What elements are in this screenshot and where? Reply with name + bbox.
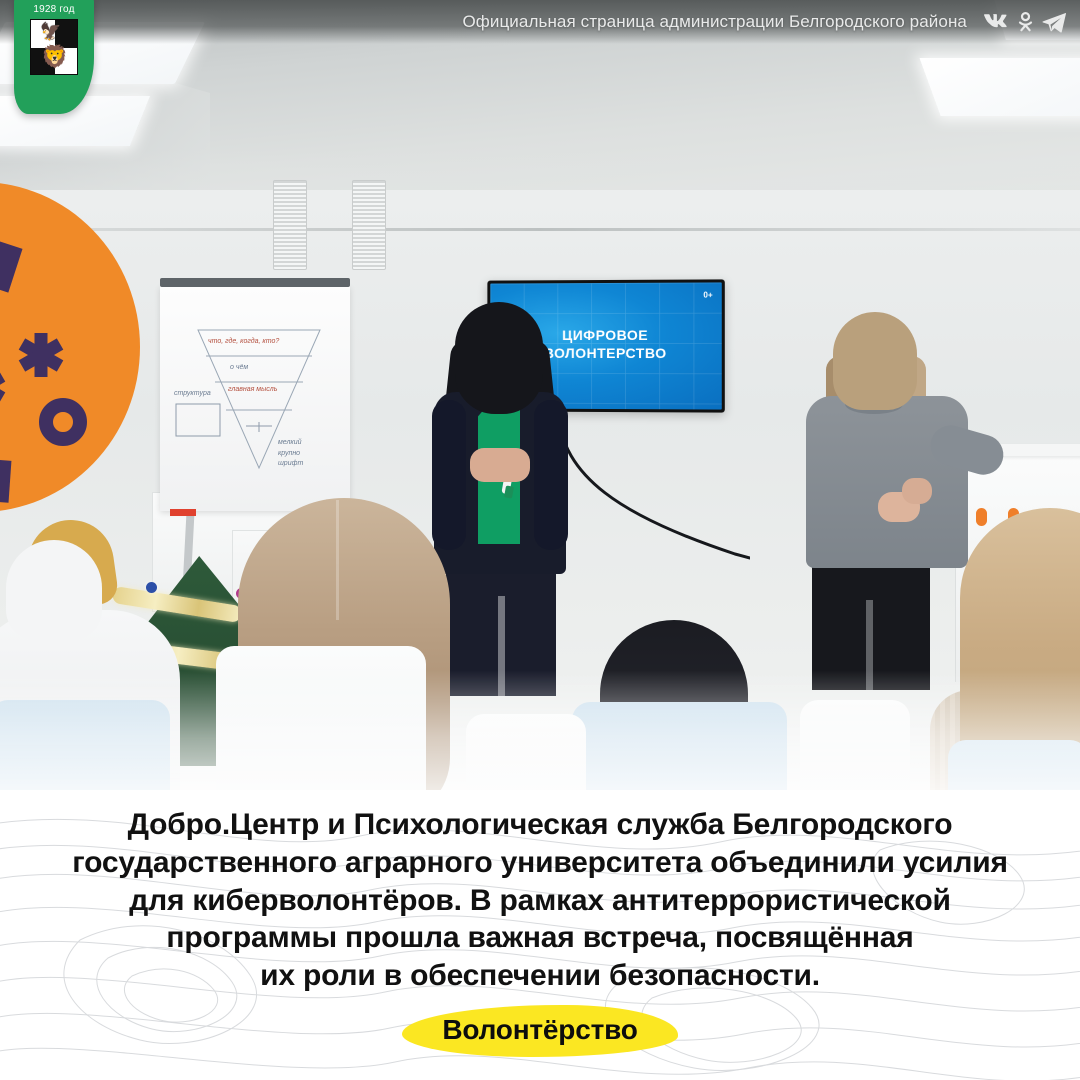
ornament	[146, 582, 157, 593]
caption-line-4: программы прошла важная встреча, посвящё…	[46, 919, 1034, 957]
speaker-hands	[470, 448, 530, 482]
presenter-hand	[902, 478, 932, 504]
telegram-icon[interactable]	[1042, 12, 1066, 33]
presenter-grey-sweater	[806, 396, 968, 568]
decal-rectangle	[0, 241, 23, 292]
decal-rectangle	[0, 459, 11, 502]
smiley-eye-icon	[976, 508, 987, 526]
flipchart-paper: что, где, когда, кто? о чём главная мысл…	[160, 286, 350, 511]
category-badge[interactable]: Волонтёрство	[402, 1005, 677, 1057]
speaker-hair-top	[455, 302, 543, 414]
social-media-post-card: что, где, когда, кто? о чём главная мысл…	[0, 0, 1080, 1080]
category-badge-wrapper: Волонтёрство	[0, 1000, 1080, 1062]
caption-line-1: Добро.Центр и Психологическая служба Бел…	[46, 806, 1034, 844]
decal-ring	[39, 398, 87, 446]
flipchart-note: что, где, когда, кто?	[208, 338, 279, 345]
wall-seam	[0, 228, 1080, 231]
hair-part	[336, 500, 339, 620]
speaker-arm-left	[432, 400, 466, 550]
badge-label: Волонтёрство	[442, 1014, 637, 1046]
district-emblem: 1928 год 🦅 🦁	[14, 0, 94, 114]
coat-of-arms-shield: 🦅 🦁	[30, 19, 78, 75]
presenter-hair-top	[833, 312, 917, 410]
post-caption: Добро.Центр и Психологическая служба Бел…	[0, 806, 1080, 995]
wall-vent	[352, 180, 386, 270]
page-title: Официальная страница администрации Белго…	[462, 12, 967, 32]
flipchart-note: мелкийкрупношрифт	[278, 438, 303, 470]
wall-vent	[273, 180, 307, 270]
flipchart-note: главная мысль	[228, 386, 277, 393]
flipchart-note: структура	[174, 390, 211, 397]
attendee-hood	[6, 540, 102, 640]
decal-asterisk	[18, 332, 64, 378]
odnoklassniki-icon[interactable]	[1018, 12, 1033, 32]
ceiling-light	[919, 58, 1080, 116]
emblem-year-label: 1928 год	[33, 4, 74, 15]
header-bar: Официальная страница администрации Белго…	[0, 0, 1080, 44]
speaker-arm-right	[534, 400, 568, 550]
social-links	[983, 12, 1066, 33]
flipchart-note: о чём	[230, 364, 248, 371]
conference-room-photo: что, где, когда, кто? о чём главная мысл…	[0, 0, 1080, 820]
caption-line-2: государственного аграрного университета …	[46, 844, 1034, 882]
lion-icon: 🦁	[41, 46, 68, 68]
eagle-icon: 🦅	[40, 23, 61, 40]
decal-asterisk	[0, 364, 6, 410]
caption-line-5: их роли в обеспечении безопасности.	[46, 957, 1034, 995]
vk-icon[interactable]	[983, 13, 1009, 31]
age-rating-badge: 0+	[703, 291, 712, 300]
inverted-triangle-diagram	[160, 286, 350, 511]
caption-line-3: для киберволонтёров. В рамках антитеррор…	[46, 882, 1034, 920]
